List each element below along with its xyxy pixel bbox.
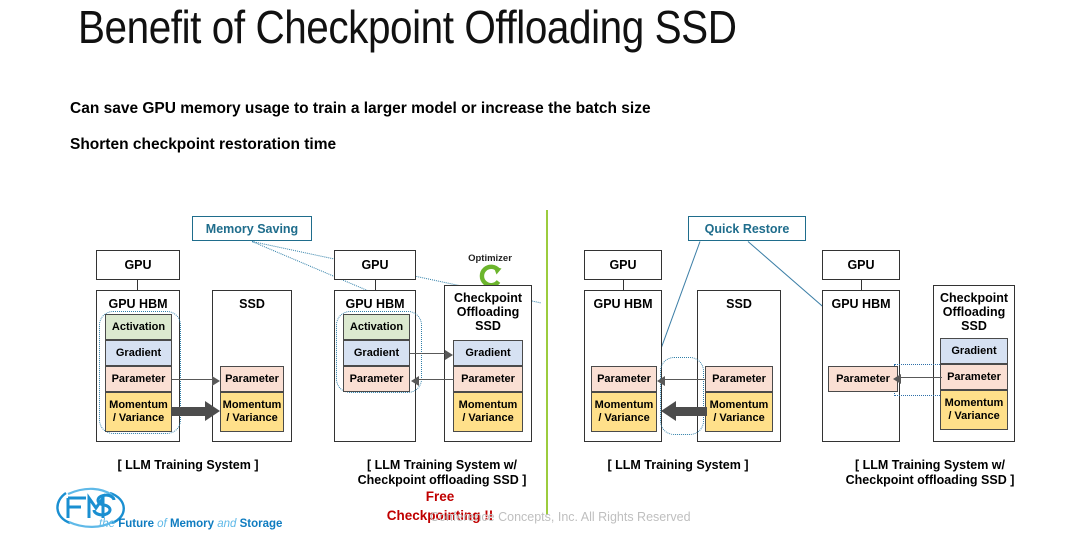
- block-momentum-ssd-label1-sys3: Momentum: [710, 399, 769, 412]
- gpu-label-sys2: GPU: [335, 258, 415, 272]
- fms-tagline-of: of: [154, 518, 170, 530]
- gpu-label-sys3: GPU: [585, 258, 661, 272]
- bullet-line-1: Can save GPU memory usage to train a lar…: [70, 100, 651, 118]
- block-momentum-sys1: Momentum / Variance: [105, 392, 172, 432]
- caption-sys4: [ LLM Training System w/ Checkpoint offl…: [818, 458, 1042, 488]
- arrow-momentum-offload-sys1: [172, 407, 206, 416]
- free-checkpointing-line1: Free: [330, 487, 550, 506]
- block-momentum-ssd-label2-sys1: / Variance: [226, 412, 277, 425]
- gpu-stem-sys1: [137, 280, 138, 290]
- block-parameter-hbm-label-sys3: Parameter: [597, 373, 651, 386]
- block-momentum-hbm-label1-sys3: Momentum: [595, 399, 654, 412]
- gpu-box-sys1: GPU: [96, 250, 180, 280]
- caption-sys3: [ LLM Training System ]: [578, 458, 778, 473]
- block-parameter-ckptssd-label-sys2: Parameter: [461, 373, 515, 386]
- block-momentum-label2-sys1: / Variance: [113, 412, 164, 425]
- block-momentum-label1-sys1: Momentum: [109, 399, 168, 412]
- block-parameter-label-sys1: Parameter: [112, 373, 166, 386]
- gpu-label-sys1: GPU: [97, 258, 179, 272]
- checkpoint-ssd-label3-sys2: SSD: [445, 319, 531, 333]
- block-gradient-sys1: Gradient: [105, 340, 172, 366]
- fms-tagline-future: Future: [118, 518, 154, 530]
- ssd-label-sys1: SSD: [213, 297, 291, 311]
- gpu-stem-sys2: [375, 280, 376, 290]
- block-parameter-ckptssd-sys4: Parameter: [940, 364, 1008, 390]
- fms-tagline-memory: Memory: [170, 518, 214, 530]
- highlight-quick-restore-sys3: [660, 357, 704, 435]
- block-parameter-sys1: Parameter: [105, 366, 172, 392]
- block-gradient-sys2: Gradient: [343, 340, 410, 366]
- arrow-momentum-restore-sys3: [675, 407, 707, 416]
- gpu-hbm-label-sys3: GPU HBM: [585, 297, 661, 311]
- slide-canvas: Benefit of Checkpoint Offloading SSD Can…: [0, 0, 1080, 537]
- block-momentum-hbm-label2-sys3: / Variance: [598, 412, 649, 425]
- block-parameter-ssd-sys3: Parameter: [705, 366, 773, 392]
- fms-tagline: the Future of Memory and Storage: [99, 518, 282, 530]
- bullet-line-2: Shorten checkpoint restoration time: [70, 136, 336, 154]
- gpu-box-sys4: GPU: [822, 250, 900, 280]
- caption-sys4-line2: Checkpoint offloading SSD ]: [818, 473, 1042, 488]
- checkpoint-ssd-label1-sys2: Checkpoint: [445, 291, 531, 305]
- caption-sys1: [ LLM Training System ]: [88, 458, 288, 473]
- fms-tagline-storage: Storage: [240, 518, 283, 530]
- caption-sys4-line1: [ LLM Training System w/: [818, 458, 1042, 473]
- gpu-hbm-label-sys2: GPU HBM: [335, 297, 415, 311]
- block-gradient-ckptssd-sys2: Gradient: [453, 340, 523, 366]
- block-momentum-ssd-sys3: Momentum / Variance: [705, 392, 773, 432]
- block-parameter-sys2: Parameter: [343, 366, 410, 392]
- gpu-stem-sys3: [623, 280, 624, 290]
- callout-memory-saving-label: Memory Saving: [206, 222, 298, 236]
- block-gradient-label-sys1: Gradient: [116, 347, 161, 360]
- checkpoint-ssd-label2-sys2: Offloading: [445, 305, 531, 319]
- caption-sys2-line1: [ LLM Training System w/: [330, 458, 554, 473]
- gpu-box-sys3: GPU: [584, 250, 662, 280]
- block-parameter-hbm-label-sys4: Parameter: [836, 373, 890, 386]
- block-momentum-ckptssd-label1-sys2: Momentum: [459, 399, 518, 412]
- copyright-footer: Conference Concepts, Inc. All Rights Res…: [430, 510, 691, 524]
- arrow-parameter-restore-sys2: [418, 379, 454, 380]
- block-parameter-ckptssd-sys2: Parameter: [453, 366, 523, 392]
- gpu-hbm-label-sys4: GPU HBM: [823, 297, 899, 311]
- ssd-label-sys3: SSD: [698, 297, 780, 311]
- checkpoint-ssd-label2-sys4: Offloading: [934, 305, 1014, 319]
- caption-sys2: [ LLM Training System w/ Checkpoint offl…: [330, 458, 554, 488]
- arrow-parameter-restore-sys3: [664, 379, 706, 380]
- block-momentum-hbm-sys3: Momentum / Variance: [591, 392, 657, 432]
- block-momentum-ssd-label2-sys3: / Variance: [713, 412, 764, 425]
- gpu-label-sys4: GPU: [823, 258, 899, 272]
- block-parameter-ssd-label-sys3: Parameter: [712, 373, 766, 386]
- page-title: Benefit of Checkpoint Offloading SSD: [78, 0, 736, 56]
- block-parameter-ssd-sys1: Parameter: [220, 366, 284, 392]
- fms-tagline-the: the: [99, 518, 118, 530]
- block-activation-sys1: Activation: [105, 314, 172, 340]
- arrow-gradient-offload-sys2: [410, 353, 446, 354]
- callout-quick-restore: Quick Restore: [688, 216, 806, 241]
- block-gradient-label-sys2: Gradient: [354, 347, 399, 360]
- block-activation-label-sys2: Activation: [350, 321, 403, 334]
- optimizer-indicator: Optimizer: [459, 253, 521, 288]
- callout-memory-saving: Memory Saving: [192, 216, 312, 241]
- block-momentum-ckptssd-label1-sys4: Momentum: [945, 397, 1004, 410]
- arrow-parameter-offload-sys1: [172, 379, 213, 380]
- gpu-box-sys2: GPU: [334, 250, 416, 280]
- block-parameter-ssd-label-sys1: Parameter: [225, 373, 279, 386]
- block-parameter-label-sys2: Parameter: [350, 373, 404, 386]
- block-gradient-ckptssd-sys4: Gradient: [940, 338, 1008, 364]
- block-momentum-ssd-label1-sys1: Momentum: [223, 399, 282, 412]
- block-momentum-ckptssd-sys2: Momentum / Variance: [453, 392, 523, 432]
- highlight-quick-restore-sys4: [894, 364, 942, 396]
- block-momentum-ckptssd-label2-sys2: / Variance: [462, 412, 513, 425]
- arrow-parameter-restore-sys4: [900, 377, 942, 378]
- block-activation-label-sys1: Activation: [112, 321, 165, 334]
- callout-quick-restore-label: Quick Restore: [705, 222, 790, 236]
- checkpoint-ssd-label1-sys4: Checkpoint: [934, 291, 1014, 305]
- gpu-hbm-label-sys1: GPU HBM: [97, 297, 179, 311]
- checkpoint-ssd-label3-sys4: SSD: [934, 319, 1014, 333]
- gpu-stem-sys4: [861, 280, 862, 290]
- block-parameter-hbm-sys4: Parameter: [828, 366, 898, 392]
- block-parameter-ckptssd-label-sys4: Parameter: [947, 371, 1001, 384]
- block-activation-sys2: Activation: [343, 314, 410, 340]
- block-gradient-ckptssd-label-sys4: Gradient: [951, 345, 996, 358]
- block-parameter-hbm-sys3: Parameter: [591, 366, 657, 392]
- block-momentum-ckptssd-sys4: Momentum / Variance: [940, 390, 1008, 430]
- optimizer-label: Optimizer: [459, 253, 521, 264]
- fms-tagline-and: and: [214, 518, 240, 530]
- block-momentum-ssd-sys1: Momentum / Variance: [220, 392, 284, 432]
- block-gradient-ckptssd-label-sys2: Gradient: [465, 347, 510, 360]
- caption-sys2-line2: Checkpoint offloading SSD ]: [330, 473, 554, 488]
- block-momentum-ckptssd-label2-sys4: / Variance: [948, 410, 999, 423]
